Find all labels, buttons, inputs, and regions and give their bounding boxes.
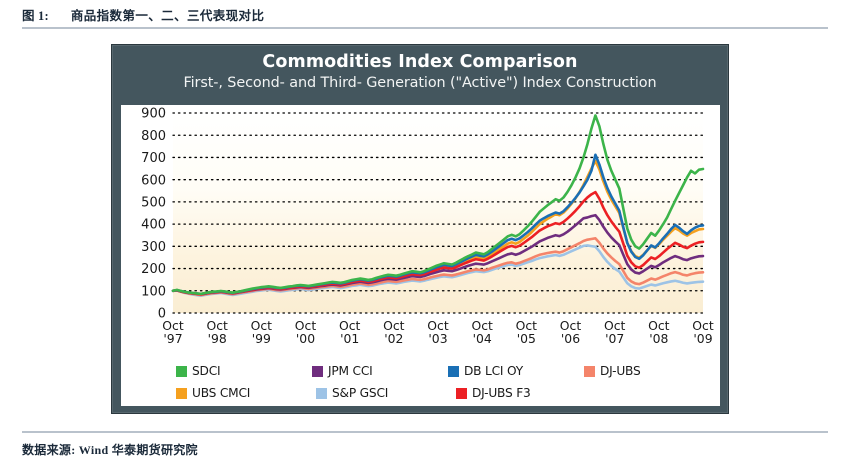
svg-text:400: 400	[141, 218, 166, 233]
legend-label: DB LCI OY	[464, 364, 523, 378]
report-figure-page: 图 1: 商品指数第一、二、三代表现对比 Commodities Index C…	[0, 0, 850, 473]
legend-label: SDCI	[192, 364, 220, 378]
footer-divider	[22, 431, 828, 433]
data-source: 数据来源: Wind 华泰期货研究院	[22, 441, 198, 458]
svg-text:'98: '98	[208, 331, 227, 346]
legend-swatch-icon	[456, 388, 467, 399]
svg-text:100: 100	[141, 284, 166, 299]
legend-swatch-icon	[176, 388, 187, 399]
legend-item-jpm-cci[interactable]: JPM CCI	[312, 364, 448, 378]
legend-item-db-lci-oy[interactable]: DB LCI OY	[448, 364, 584, 378]
chart-subtitle: First-, Second- and Third- Generation ("…	[112, 75, 728, 91]
svg-text:900: 900	[141, 107, 166, 122]
legend-row-secondary: UBS CMCIS&P GSCIDJ-UBS F3	[121, 382, 720, 404]
svg-text:'09: '09	[693, 331, 712, 346]
legend-item-ubs-cmci[interactable]: UBS CMCI	[176, 386, 316, 400]
legend-swatch-icon	[176, 366, 187, 377]
legend-label: DJ-UBS	[600, 364, 641, 378]
legend-item-dj-ubs-f3[interactable]: DJ-UBS F3	[456, 386, 596, 400]
svg-text:500: 500	[141, 195, 166, 210]
svg-text:'04: '04	[473, 331, 492, 346]
chart-title: Commodities Index Comparison	[112, 52, 728, 72]
svg-text:'00: '00	[296, 331, 315, 346]
svg-text:'03: '03	[428, 331, 447, 346]
figure-number: 图 1:	[22, 5, 49, 24]
svg-text:600: 600	[141, 173, 166, 188]
legend-row-primary: SDCIJPM CCIDB LCI OYDJ-UBS	[121, 360, 720, 382]
svg-text:200: 200	[141, 262, 166, 277]
plot-card: 0100200300400500600700800900Oct'97Oct'98…	[121, 105, 720, 406]
svg-text:'05: '05	[517, 331, 536, 346]
svg-text:300: 300	[141, 240, 166, 255]
svg-text:'06: '06	[561, 331, 580, 346]
svg-text:'07: '07	[605, 331, 624, 346]
svg-text:'01: '01	[340, 331, 359, 346]
header-divider	[22, 27, 828, 29]
legend-swatch-icon	[584, 366, 595, 377]
legend-item-dj-ubs[interactable]: DJ-UBS	[584, 364, 720, 378]
svg-text:'97: '97	[163, 331, 182, 346]
figure-header: 图 1: 商品指数第一、二、三代表现对比	[0, 0, 850, 28]
legend-label: UBS CMCI	[192, 386, 250, 400]
legend-label: DJ-UBS F3	[472, 386, 531, 400]
svg-text:700: 700	[141, 151, 166, 166]
line-chart-plot: 0100200300400500600700800900Oct'97Oct'98…	[121, 105, 720, 360]
legend-item-sdci[interactable]: SDCI	[176, 364, 312, 378]
svg-text:'99: '99	[252, 331, 271, 346]
legend-item-s-p-gsci[interactable]: S&P GSCI	[316, 386, 456, 400]
chart-legend: SDCIJPM CCIDB LCI OYDJ-UBS UBS CMCIS&P G…	[121, 360, 720, 406]
legend-label: S&P GSCI	[332, 386, 388, 400]
svg-text:'08: '08	[649, 331, 668, 346]
figure-caption: 商品指数第一、二、三代表现对比	[71, 5, 265, 24]
legend-swatch-icon	[316, 388, 327, 399]
svg-text:'02: '02	[384, 331, 403, 346]
legend-swatch-icon	[448, 366, 459, 377]
svg-text:800: 800	[141, 129, 166, 144]
legend-label: JPM CCI	[328, 364, 373, 378]
legend-swatch-icon	[312, 366, 323, 377]
chart-panel: Commodities Index Comparison First-, Sec…	[111, 44, 729, 414]
